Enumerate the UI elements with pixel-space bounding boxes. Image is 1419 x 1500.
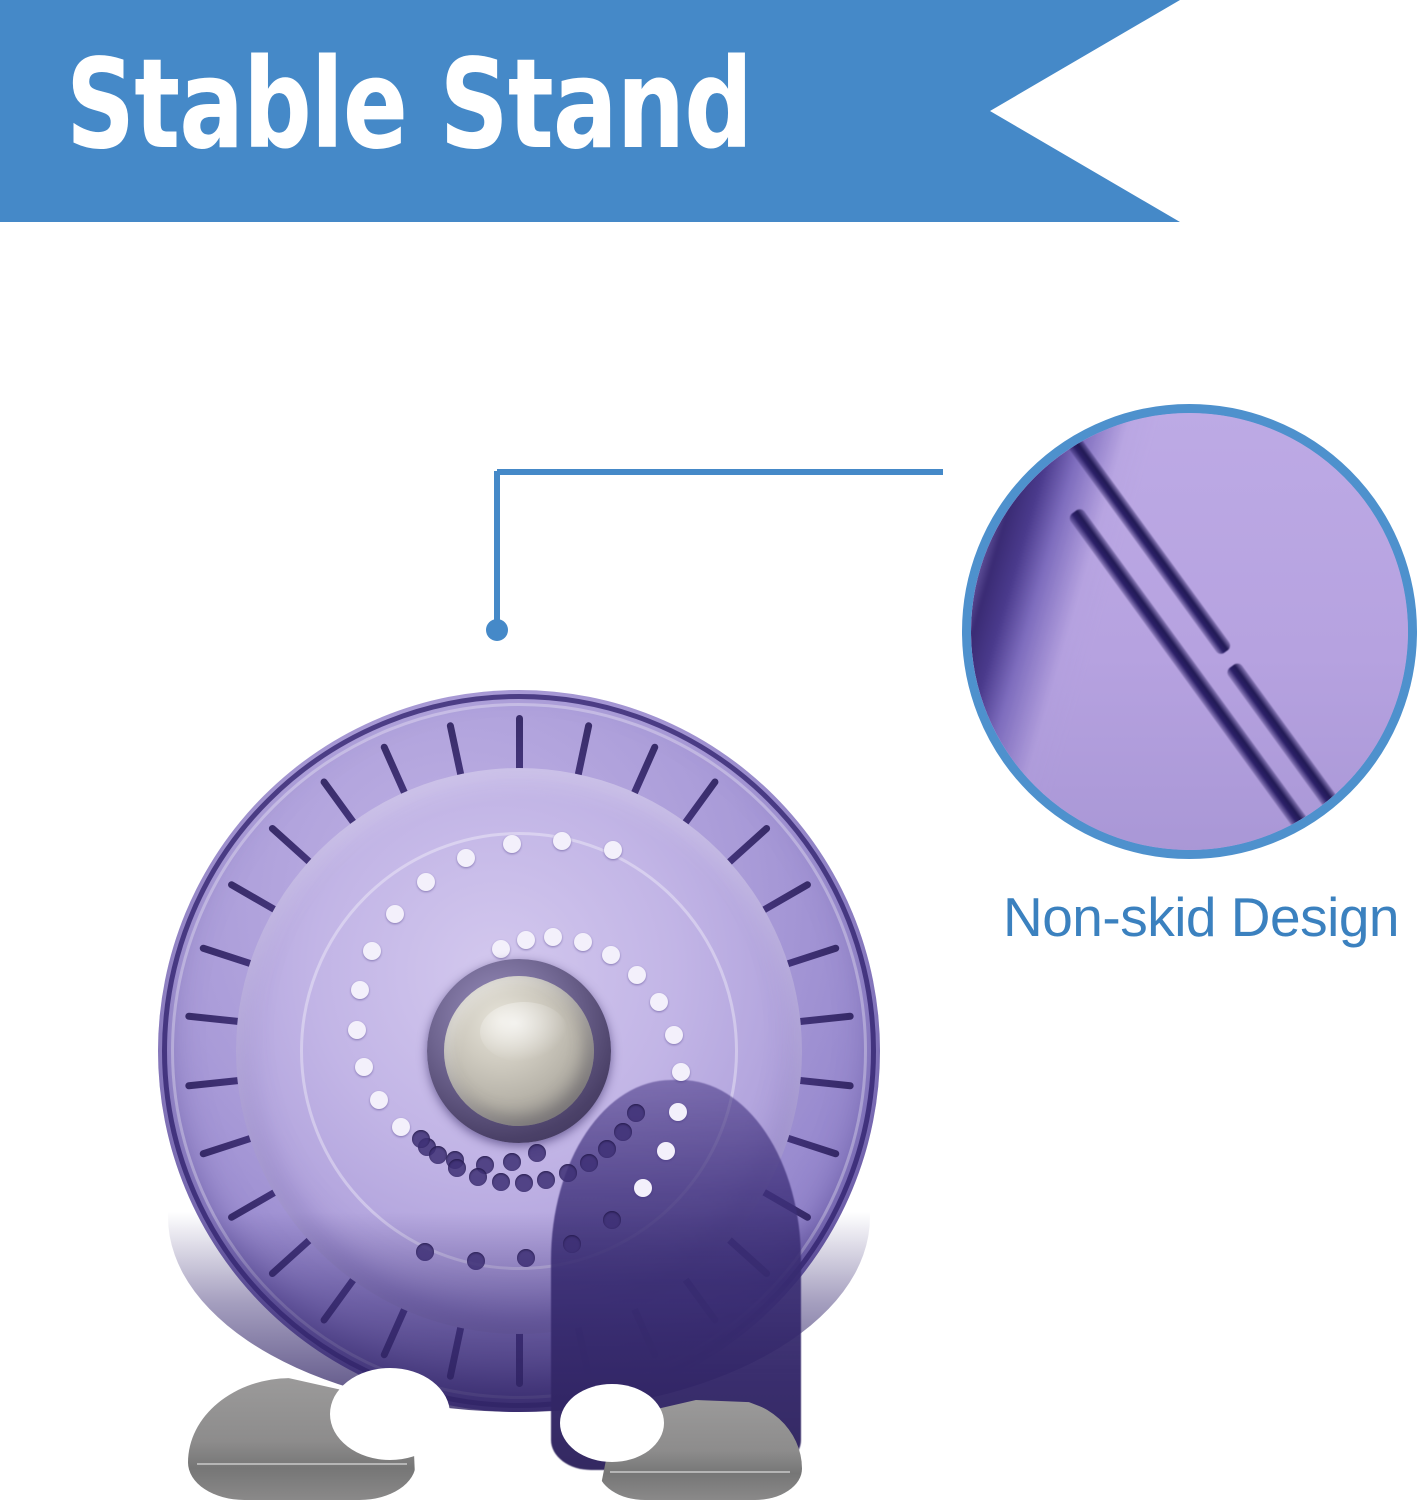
callout-connector-svg (470, 450, 970, 660)
page-title: Stable Stand (66, 30, 823, 180)
wheel-vent-dot (657, 1142, 675, 1160)
wheel-vent-dot (528, 1144, 546, 1162)
wheel-vent-dot (665, 1026, 683, 1044)
wheel-vent-dot (628, 966, 646, 984)
wheel-vent-dot (602, 946, 620, 964)
magnifier-content (971, 413, 1408, 850)
wheel-vent-dot (363, 942, 381, 960)
wheel-vent-dot (669, 1103, 687, 1121)
wheel-vent-dot (503, 835, 521, 853)
wheel-vent-dot (598, 1140, 616, 1158)
wheel-vent-dot (355, 1058, 373, 1076)
hub-gloss-highlight (480, 1002, 568, 1062)
wheel-vent-dot (503, 1153, 521, 1171)
wheel-vent-dot (515, 1174, 533, 1192)
wheel-vent-dot (574, 933, 592, 951)
header-ribbon: Stable Stand (0, 0, 1180, 222)
wheel-vent-dot (559, 1164, 577, 1182)
wheel-vent-dot (457, 849, 475, 867)
wheel-vent-dot (416, 1243, 434, 1261)
wheel-vent-dot (604, 841, 622, 859)
wheel-vent-dot (650, 993, 668, 1011)
wheel-vent-dot (417, 873, 435, 891)
wheel-vent-dot (672, 1063, 690, 1081)
infographic-page: Stable Stand Non-skid Design (0, 0, 1419, 1500)
wheel-center-hub (427, 959, 611, 1143)
wheel-vent-dot (467, 1252, 485, 1270)
wheel-vent-dot (370, 1091, 388, 1109)
wheel-vent-dot (351, 981, 369, 999)
wheel-vent-dot (386, 905, 404, 923)
wheel-vent-dot (492, 940, 510, 958)
wheel-vent-dot (517, 1249, 535, 1267)
base-foot-left-notch (330, 1368, 450, 1460)
wheel-vent-dot (563, 1235, 581, 1253)
wheel-vent-dot (537, 1171, 555, 1189)
base-foot-right-notch (560, 1384, 664, 1462)
wheel-vent-dot (634, 1179, 652, 1197)
hub-dome (444, 976, 594, 1126)
exercise-wheel (158, 690, 880, 1412)
wheel-vent-dot (392, 1118, 410, 1136)
wheel-vent-dot (348, 1021, 366, 1039)
foot-seam-right (610, 1471, 790, 1473)
wheel-vent-dot (603, 1211, 621, 1229)
wheel-vent-dot (544, 928, 562, 946)
wheel-vent-dot (429, 1146, 447, 1164)
foot-seam-left (197, 1463, 407, 1465)
wheel-vent-dot (517, 931, 535, 949)
wheel-vent-dot (448, 1159, 466, 1177)
wheel-vent-dot (614, 1123, 632, 1141)
product-image (0, 640, 1000, 1500)
callout-connector (470, 450, 970, 660)
callout-anchor-dot (486, 619, 508, 641)
wheel-vent-dot (627, 1104, 645, 1122)
magnifier-circle (962, 404, 1417, 859)
magnifier-label: Non-skid Design (1003, 884, 1419, 950)
wheel-vent-dot (580, 1154, 598, 1172)
wheel-vent-dot (492, 1173, 510, 1191)
wheel-vent-dot (469, 1168, 487, 1186)
wheel-vent-dot (553, 832, 571, 850)
